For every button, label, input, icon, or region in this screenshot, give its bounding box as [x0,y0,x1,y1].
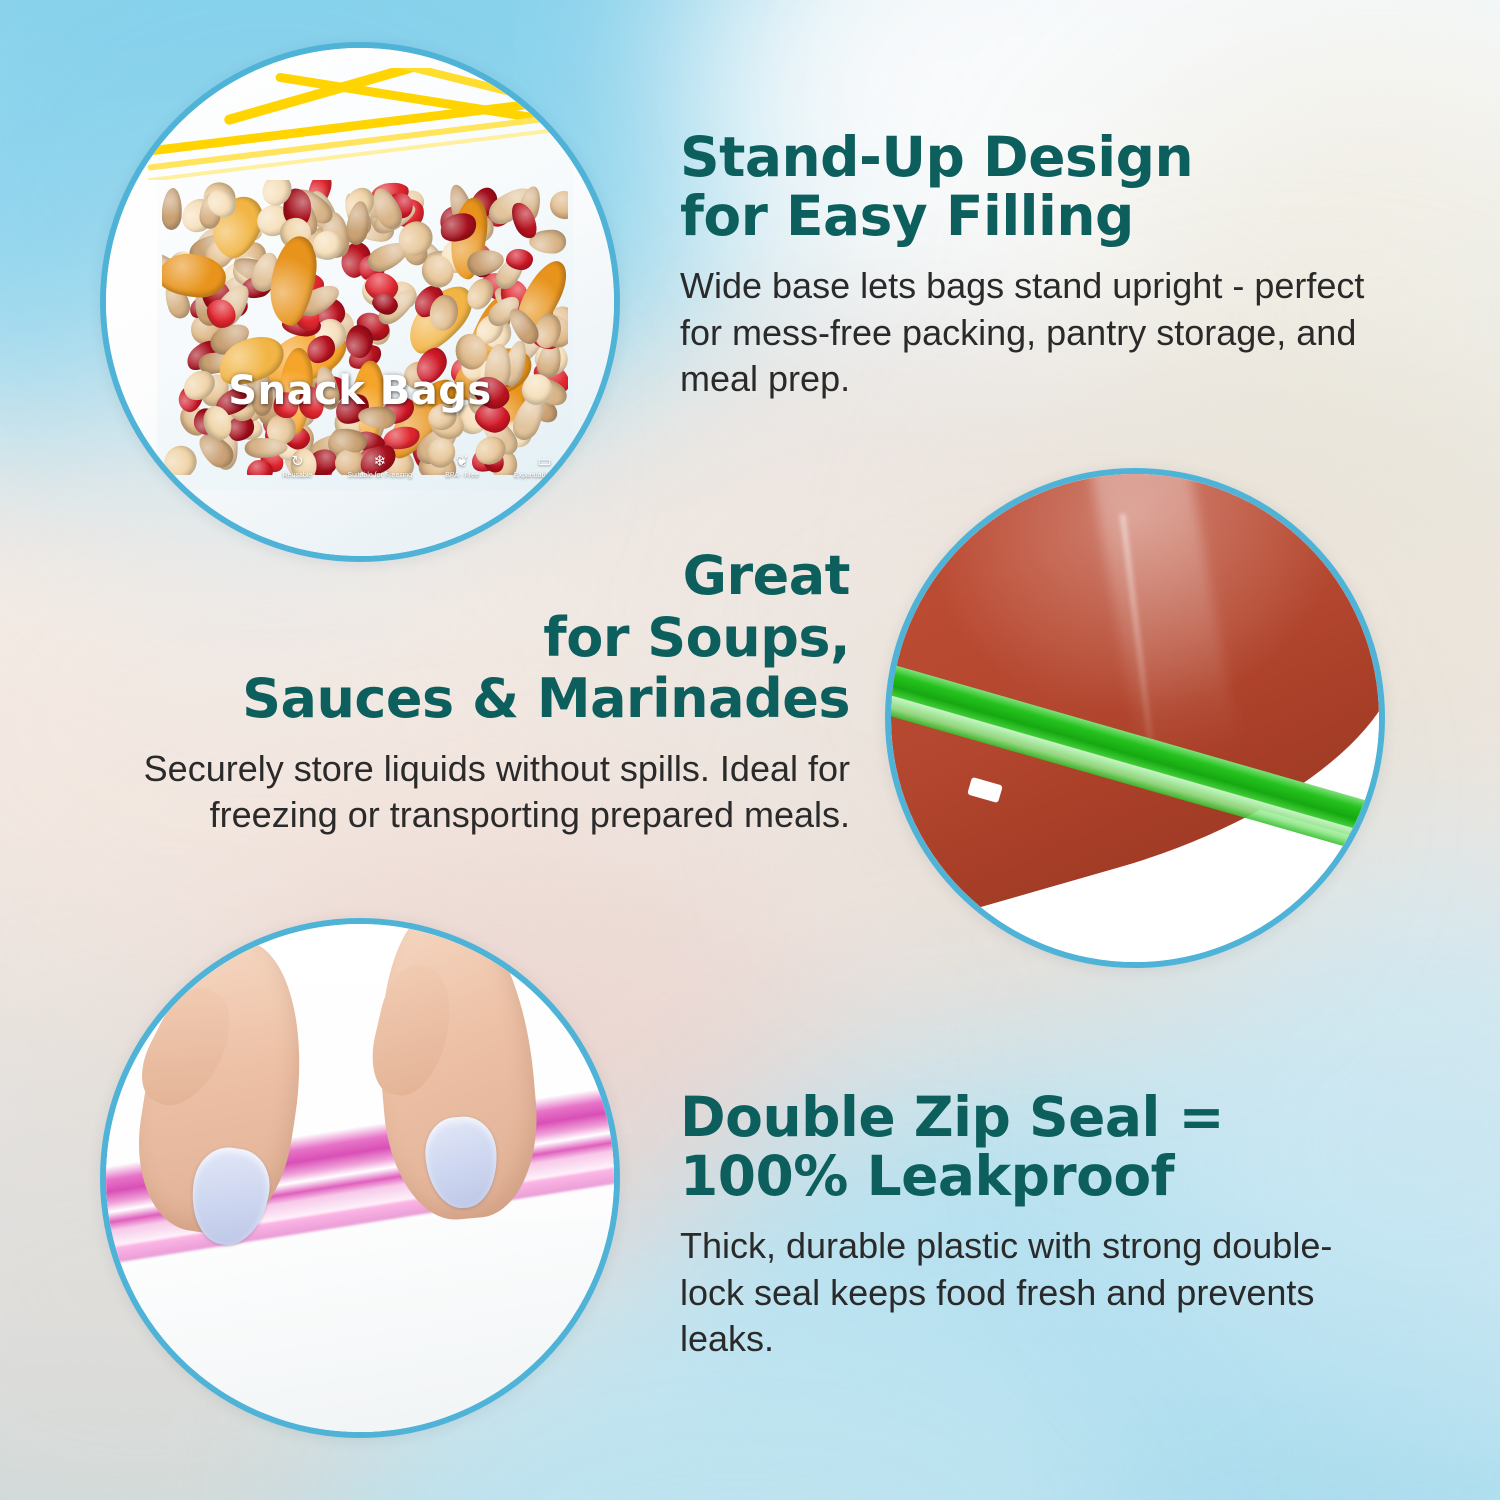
badge-label: Expandable Bottom [505,472,583,480]
badge-label: BPA - Free [423,472,501,480]
heading-line-2: for Soups, [60,607,850,669]
hazelnut [547,188,569,222]
expandable-bag-icon: ▭ [505,454,583,470]
recycle-icon: ↻ [258,454,336,470]
zip-stripe [147,126,574,180]
feature-stand-up-design: Stand-Up Design for Easy Filling Wide ba… [680,128,1390,403]
badge-reusable: ↻ Reusable [258,454,336,480]
badge-label: Reusable [258,472,336,480]
product-photo-double-zip-seal [100,918,620,1438]
snowflake-icon: ❄ [341,454,419,470]
feature-soups-sauces-marinades: Great for Soups, Sauces & Marinades Secu… [60,545,850,839]
leaf-icon: ❦ [423,454,501,470]
snack-bag-label: Snack Bags [106,368,614,414]
badge-expandable-bottom: ▭ Expandable Bottom [505,454,583,480]
hazelnut [162,439,204,475]
feature-body: Wide base lets bags stand upright - perf… [680,263,1390,403]
heading-line-2: for Easy Filling [680,187,1390,246]
badge-bpa-free: ❦ BPA - Free [423,454,501,480]
seal-photo-inner [106,924,614,1432]
bag-feature-badges: ↻ Reusable ❄ Suitable for Freezing ❦ BPA… [258,454,583,480]
badge-suitable-for-freezing: ❄ Suitable for Freezing [341,454,419,480]
feature-heading: Stand-Up Design for Easy Filling [680,128,1390,247]
heading-line-3: Sauces & Marinades [60,668,850,730]
feature-body: Thick, durable plastic with strong doubl… [680,1223,1390,1363]
sauce-photo-inner [891,474,1379,962]
heading-line-1: Double Zip Seal = [680,1088,1390,1147]
feature-body: Securely store liquids without spills. I… [60,746,850,840]
heading-line-1: Great [60,545,850,607]
heading-line-2: 100% Leakproof [680,1147,1390,1206]
feature-double-zip-seal: Double Zip Seal = 100% Leakproof Thick, … [680,1088,1390,1363]
yellow-zip-stripes [136,68,593,180]
badge-label: Suitable for Freezing [341,472,419,480]
feature-heading: Great for Soups, Sauces & Marinades [60,545,850,730]
feature-heading: Double Zip Seal = 100% Leakproof [680,1088,1390,1207]
heading-line-1: Stand-Up Design [680,128,1390,187]
trail-mix-contents [162,180,568,475]
snack-photo-inner: Snack Bags ↻ Reusable ❄ Suitable for Fre… [106,48,614,556]
almond [162,187,184,230]
product-photo-snack-bags: Snack Bags ↻ Reusable ❄ Suitable for Fre… [100,42,620,562]
product-photo-sauce-bag [885,468,1385,968]
